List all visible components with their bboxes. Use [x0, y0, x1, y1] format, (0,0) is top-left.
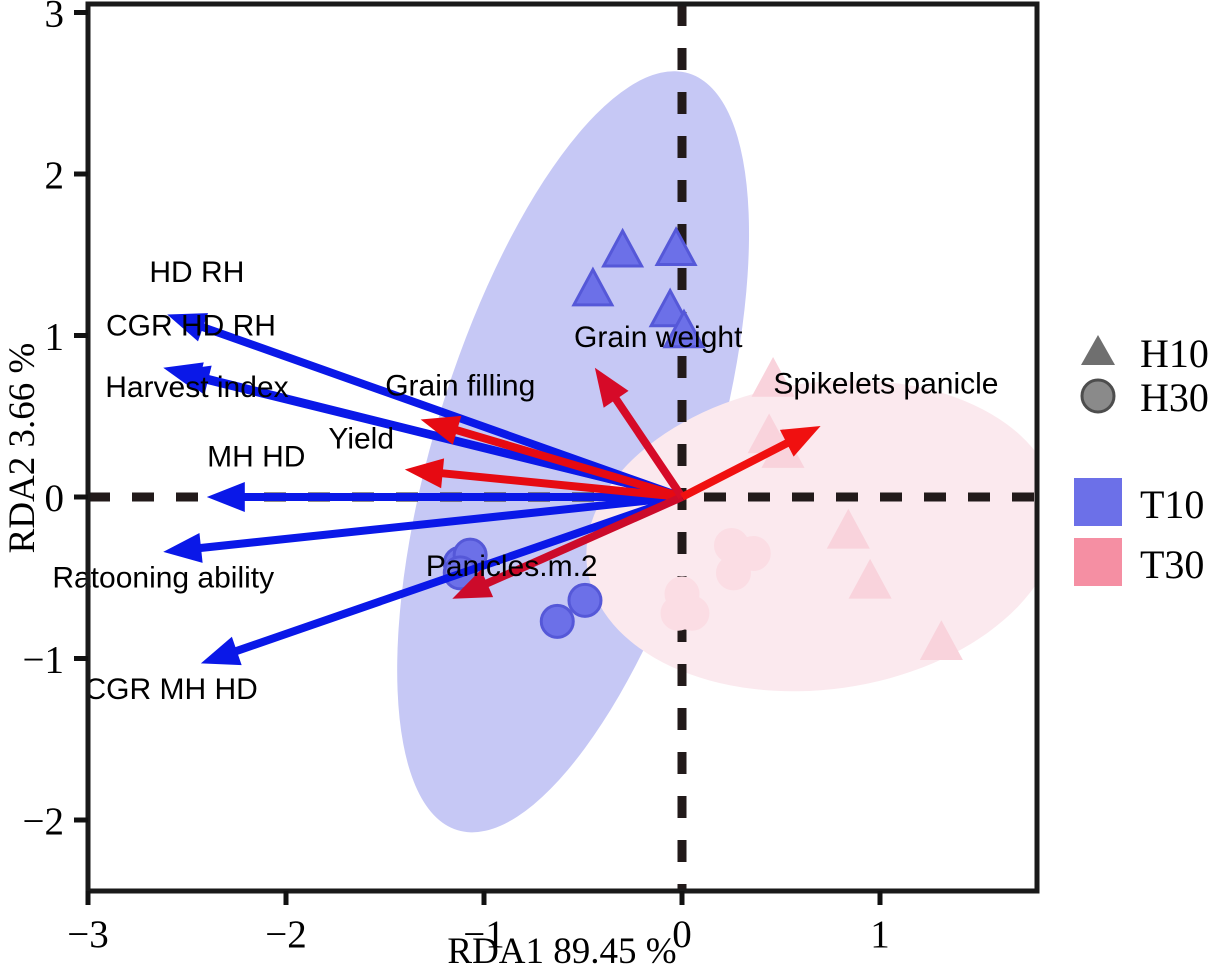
legend-swatch-t30[interactable] — [1074, 538, 1122, 586]
vector-label-hd-rh: HD RH — [149, 256, 244, 289]
data-point-t10-h30 — [541, 605, 573, 637]
y-tick-label: 0 — [45, 477, 65, 520]
vector-label-harvest-index: Harvest index — [105, 371, 288, 404]
legend-label-h10: H10 — [1140, 331, 1208, 376]
y-tick-label: 3 — [45, 0, 65, 36]
data-point-t10-h30 — [569, 584, 601, 616]
y-tick-label: −2 — [23, 800, 65, 843]
vector-label-mh-hd: MH HD — [207, 440, 305, 473]
legend-label-t10: T10 — [1140, 482, 1204, 527]
legend-label-h30: H30 — [1140, 375, 1208, 420]
legend-label-t30: T30 — [1140, 542, 1204, 587]
y-axis-label: RDA2 3.66 % — [2, 343, 43, 554]
legend-marker-h30[interactable] — [1082, 380, 1114, 412]
y-tick-label: 1 — [45, 316, 65, 359]
rda-biplot-figure: HD RHCGR HD RHHarvest indexMH HDRatoonin… — [0, 0, 1208, 976]
legend-swatch-t10[interactable] — [1074, 478, 1122, 526]
x-tick-label: −3 — [67, 913, 109, 956]
vector-label-grain-weight: Grain weight — [574, 321, 743, 354]
vector-label-panicles-m-2: Panicles.m.2 — [426, 550, 598, 583]
vector-label-yield: Yield — [328, 423, 394, 456]
x-tick-label: −2 — [265, 913, 307, 956]
vector-label-cgr-mh-hd: CGR MH HD — [84, 673, 257, 706]
x-tick-label: 1 — [870, 913, 890, 956]
data-point-t30-h30 — [676, 597, 708, 629]
y-tick-label: −1 — [23, 639, 65, 682]
x-axis-label: RDA1 89.45 % — [447, 931, 676, 972]
vector-label-cgr-hd-rh: CGR HD RH — [106, 310, 276, 343]
vector-label-grain-filling: Grain filling — [385, 369, 535, 402]
vector-label-spikelets-panicle: Spikelets panicle — [773, 368, 998, 401]
data-point-t30-h30 — [717, 557, 749, 589]
rda-plot-canvas: HD RHCGR HD RHHarvest indexMH HDRatoonin… — [0, 0, 1208, 976]
y-tick-label: 2 — [45, 154, 65, 197]
